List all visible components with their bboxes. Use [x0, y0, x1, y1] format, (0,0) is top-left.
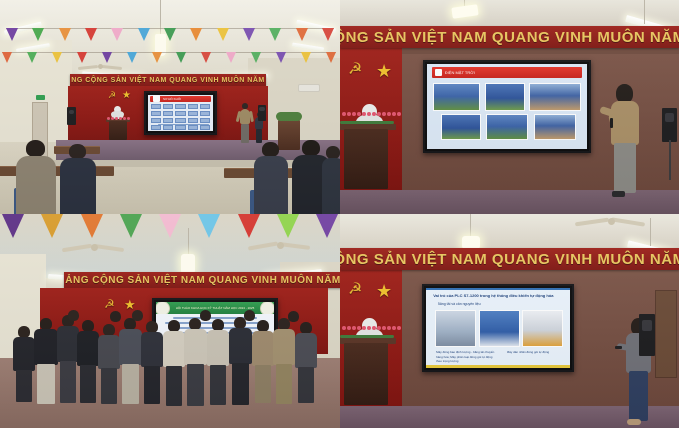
ceiling-fan: [248, 242, 310, 254]
slide-caption-left: Máy đóng bao định lượng - băng tải chuyể…: [436, 350, 496, 363]
speaker: [608, 84, 642, 198]
podium: [109, 121, 127, 140]
audience-member: [254, 142, 288, 214]
wall-banner: ỘNG SẢN VIỆT NAM QUANG VINH MUÔN NĂM: [340, 248, 679, 270]
slide-badge-icon: [435, 69, 442, 76]
banner-text: ỘNG SẢN VIỆT NAM QUANG VINH MUÔN NĂM: [340, 29, 679, 46]
ceiling-fan: [62, 244, 124, 256]
slide-photo: [522, 310, 562, 348]
microphone: [610, 118, 613, 128]
door: [655, 290, 677, 378]
group-member: [196, 310, 216, 334]
slide-photo: [534, 114, 576, 140]
banner-text: ỘNG SẢN VIỆT NAM QUANG VINH MUÔN NĂM: [340, 251, 679, 268]
hammer-sickle-emblem: ☭: [348, 62, 362, 78]
gold-star-icon: ★: [376, 62, 392, 80]
hammer-sickle-emblem: ☭: [348, 282, 362, 298]
banner-text: NG CỘNG SẢN VIỆT NAM QUANG VINH MUÔN NĂM: [71, 77, 264, 84]
loudspeaker: [67, 107, 76, 125]
group-member: [106, 311, 126, 335]
slide-photo: [441, 114, 481, 140]
projection-screen: SƠ ĐỒ KHỐI: [144, 91, 217, 135]
presenter-remote: [615, 346, 622, 349]
slide: ĐIỆN MẶT TRỜI: [427, 64, 587, 149]
flower-arrangement: [342, 112, 401, 116]
bunting-row: [2, 52, 336, 66]
bunting-row: [6, 28, 334, 44]
light-rod: [470, 214, 471, 238]
slide-header-bar: ĐIỆN MẶT TRỜI: [432, 67, 582, 78]
projection-screen: ĐIỆN MẶT TRỜI: [423, 60, 591, 153]
group-member: [284, 311, 304, 335]
slide-photo: [529, 83, 580, 111]
speaker-stand: [669, 140, 671, 180]
gold-star-icon: ★: [376, 282, 392, 300]
pane-bottom-right: ỘNG SẢN VIỆT NAM QUANG VINH MUÔN NĂM ☭ ★…: [340, 214, 679, 428]
slide-diagram: [151, 104, 211, 125]
slide-header-bar: SƠ ĐỒ KHỐI: [150, 96, 211, 102]
group-member: [240, 310, 260, 334]
slide-subtitle: Băng tải và cân nguyên liệu: [438, 302, 553, 306]
slide-photo: [435, 310, 477, 348]
slide-photo: [486, 114, 528, 140]
slide: Vai trò của PLC S7-1200 trong hệ thống đ…: [426, 288, 570, 368]
speaker: [238, 103, 252, 145]
hammer-sickle-emblem: ☭: [108, 91, 116, 100]
pane-bottom-left: ẢNG CỘNG SẢN VIỆT NAM QUANG VINH MUÔN NĂ…: [0, 214, 340, 428]
slide-title: Vai trò của PLC S7-1200 trong hệ thống đ…: [433, 293, 565, 298]
air-conditioner: [298, 84, 320, 92]
pane-top-right: ỘNG SẢN VIỆT NAM QUANG VINH MUÔN NĂM ☭ ★…: [340, 0, 679, 214]
wall-banner: NG CỘNG SẢN VIỆT NAM QUANG VINH MUÔN NĂM: [70, 74, 266, 86]
loudspeaker: [258, 105, 266, 121]
projection-screen: Vai trò của PLC S7-1200 trong hệ thống đ…: [422, 284, 574, 372]
photo-collage: NG CỘNG SẢN VIỆT NAM QUANG VINH MUÔN NĂM…: [0, 0, 679, 428]
slide-photo: [479, 310, 519, 348]
light-rod: [650, 218, 651, 246]
light-rod: [644, 0, 645, 24]
flower-arrangement: [342, 326, 401, 330]
group-member: [64, 310, 84, 334]
exit-sign-icon: [36, 95, 45, 100]
wall-banner: ẢNG CỘNG SẢN VIỆT NAM QUANG VINH MUÔN NĂ…: [64, 272, 340, 288]
ceiling-fan: [575, 218, 645, 232]
slide-title: ĐIỆN MẶT TRỜI: [445, 70, 475, 75]
loudspeaker: [639, 314, 655, 356]
audience-member: [322, 146, 340, 214]
slide-photo: [485, 83, 525, 111]
light-rod: [188, 228, 189, 256]
wall-banner: ỘNG SẢN VIỆT NAM QUANG VINH MUÔN NĂM: [340, 26, 679, 48]
slide-title: SƠ ĐỒ KHỐI: [163, 97, 181, 101]
bunting-row: [2, 214, 338, 238]
hammer-sickle-emblem: ☭: [104, 298, 115, 310]
slide-photo: [433, 83, 479, 111]
group-member: [128, 310, 148, 334]
flower-arrangement: [107, 117, 130, 120]
audience-member: [16, 140, 56, 214]
audience-member: [60, 144, 96, 214]
podium: [344, 343, 388, 405]
gold-star-icon: ★: [122, 91, 131, 101]
pane-top-left: NG CỘNG SẢN VIỆT NAM QUANG VINH MUÔN NĂM…: [0, 0, 340, 214]
slide-badge-icon: [153, 95, 160, 102]
banner-text: ẢNG CỘNG SẢN VIỆT NAM QUANG VINH MUÔN NĂ…: [65, 275, 340, 286]
slide: SƠ ĐỒ KHỐI: [148, 95, 213, 131]
plant: [276, 112, 302, 121]
slide-caption-right: Máy dán nhãn đóng gói tự động: [507, 350, 565, 354]
podium: [344, 129, 388, 189]
loudspeaker: [662, 108, 677, 142]
